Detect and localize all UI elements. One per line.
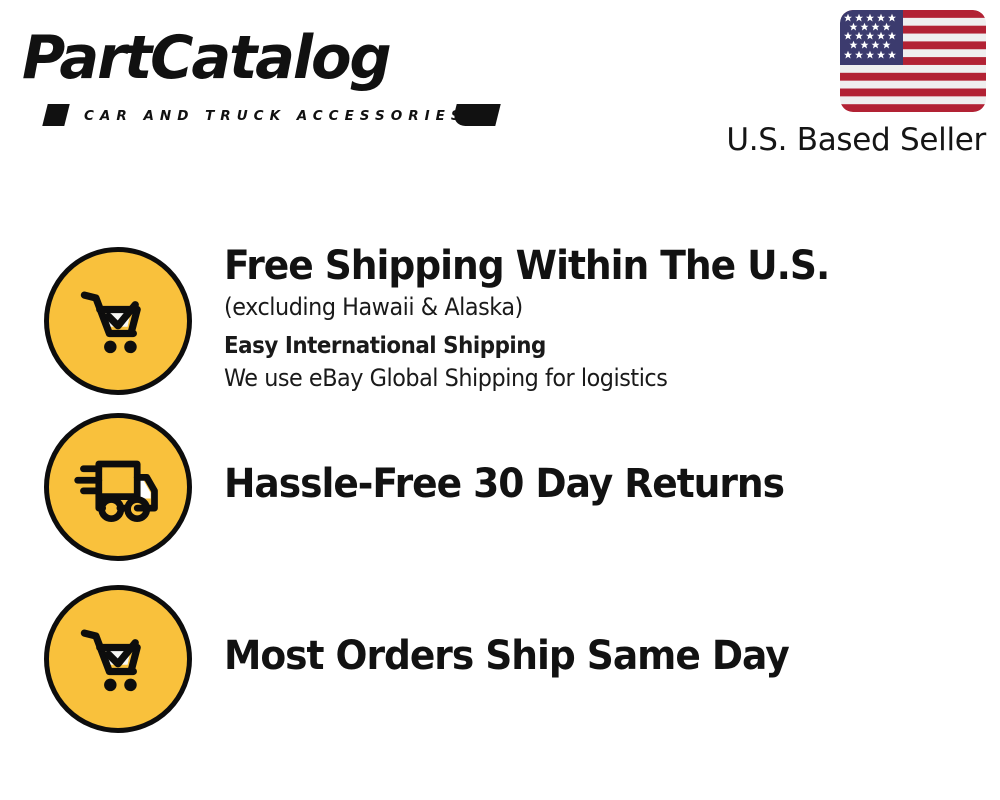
brand-tagline: CAR AND TRUCK ACCESSORIES [84, 108, 467, 124]
feature-item: Most Orders Ship Same Day [0, 583, 1000, 735]
feature-item: Hassle-Free 30 Day Returns [0, 413, 1000, 563]
feature-icon-badge [44, 585, 192, 733]
seller-badge: U.S. Based Seller [714, 10, 986, 159]
feature-text-block: Free Shipping Within The U.S. (excluding… [224, 235, 1000, 395]
feature-subheading: Easy International Shipping [224, 330, 946, 362]
feature-icon-badge [44, 413, 192, 561]
delivery-truck-icon [70, 439, 166, 535]
feature-title: Hassle-Free 30 Day Returns [224, 459, 953, 509]
brand-wordmark: PartCatalog [22, 22, 390, 94]
feature-subbody: We use eBay Global Shipping for logistic… [224, 362, 946, 395]
us-flag-icon [840, 10, 986, 112]
feature-note: (excluding Hawaii & Alaska) [224, 291, 946, 324]
feature-item: Free Shipping Within The U.S. (excluding… [0, 235, 1000, 407]
feature-title: Free Shipping Within The U.S. [224, 241, 953, 291]
page-header: PartCatalog CAR AND TRUCK ACCESSORIES [0, 0, 1000, 180]
feature-title: Most Orders Ship Same Day [224, 631, 953, 681]
feature-icon-badge [44, 247, 192, 395]
shopping-cart-check-icon [70, 273, 166, 369]
feature-text-block: Hassle-Free 30 Day Returns [224, 413, 1000, 509]
shopping-cart-check-icon [70, 611, 166, 707]
logo-accent-left [42, 104, 69, 126]
feature-text-block: Most Orders Ship Same Day [224, 583, 1000, 681]
seller-badge-label: U.S. Based Seller [714, 121, 986, 159]
brand-logo[interactable]: PartCatalog CAR AND TRUCK ACCESSORIES [22, 22, 492, 112]
